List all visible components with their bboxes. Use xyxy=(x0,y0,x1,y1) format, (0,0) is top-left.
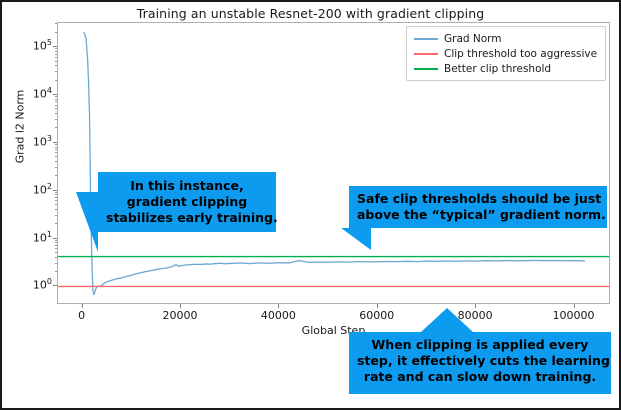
annotation-callout-safe-threshold: Safe clip thresholds should be just abov… xyxy=(349,186,607,228)
x-tick-label: 80000 xyxy=(440,309,510,322)
y-tick-mark xyxy=(53,94,57,95)
callout-two-line-1: Safe clip thresholds should be just xyxy=(357,191,599,207)
x-tick-label: 40000 xyxy=(243,309,313,322)
y-tick-minor-mark xyxy=(55,252,57,253)
y-tick-minor-mark xyxy=(55,200,57,201)
y-tick-minor-mark xyxy=(55,240,57,241)
y-tick-minor-mark xyxy=(55,147,57,148)
y-tick-minor-mark xyxy=(55,204,57,205)
chart-title: Training an unstable Resnet-200 with gra… xyxy=(2,6,619,21)
y-tick-minor-mark xyxy=(55,54,57,55)
y-tick-minor-mark xyxy=(55,192,57,193)
callout-three-line-2: step, it effectively cuts the learning xyxy=(357,353,603,369)
y-tick-label: 105 xyxy=(12,38,52,53)
y-tick-minor-mark xyxy=(55,245,57,246)
y-tick-label: 100 xyxy=(12,277,52,292)
y-tick-mark xyxy=(53,46,57,47)
y-tick-minor-mark xyxy=(55,161,57,162)
y-tick-mark xyxy=(53,190,57,191)
callout-three-line-1: When clipping is applied every xyxy=(357,337,603,353)
y-tick-mark xyxy=(53,285,57,286)
x-tick-label: 100000 xyxy=(539,309,609,322)
y-tick-minor-mark xyxy=(55,248,57,249)
callout-one-line-2: gradient clipping xyxy=(106,194,268,210)
legend-label-grad-norm: Grad Norm xyxy=(444,33,502,45)
legend-item-clip-aggressive: Clip threshold too aggressive xyxy=(412,46,600,61)
y-tick-minor-mark xyxy=(55,194,57,195)
y-tick-minor-mark xyxy=(55,257,57,258)
callout-two-line-2: above the “typical” gradient norm. xyxy=(357,207,599,223)
legend-swatch-grad-norm xyxy=(414,38,438,40)
y-tick-minor-mark xyxy=(55,113,57,114)
x-tick-label: 20000 xyxy=(145,309,215,322)
y-tick-mark xyxy=(53,142,57,143)
annotation-callout-early-training: In this instance, gradient clipping stab… xyxy=(98,172,276,232)
y-tick-minor-mark xyxy=(55,263,57,264)
y-tick-minor-mark xyxy=(55,99,57,100)
y-tick-minor-mark xyxy=(55,23,57,24)
y-tick-minor-mark xyxy=(55,51,57,52)
y-tick-minor-mark xyxy=(55,108,57,109)
y-tick-minor-mark xyxy=(55,152,57,153)
x-tick-mark xyxy=(180,304,181,308)
y-tick-minor-mark xyxy=(55,144,57,145)
y-tick-minor-mark xyxy=(55,96,57,97)
callout-one-line-3: stabilizes early training. xyxy=(106,210,268,226)
y-tick-minor-mark xyxy=(55,127,57,128)
callout-three-line-3: rate and can slow down training. xyxy=(357,369,603,385)
callout-tail-one xyxy=(76,192,98,252)
legend-swatch-clip-aggressive xyxy=(414,53,438,55)
y-tick-minor-mark xyxy=(55,197,57,198)
y-tick-minor-mark xyxy=(55,215,57,216)
y-axis-ticks: 100101102103104105 xyxy=(2,2,52,408)
x-tick-label: 0 xyxy=(47,309,117,322)
screenshot-root: Training an unstable Resnet-200 with gra… xyxy=(0,0,621,410)
legend-label-clip-aggressive: Clip threshold too aggressive xyxy=(444,48,597,60)
legend-item-better-clip: Better clip threshold xyxy=(412,61,600,76)
chart-legend: Grad Norm Clip threshold too aggressive … xyxy=(406,26,606,81)
y-tick-minor-mark xyxy=(55,65,57,66)
y-tick-mark xyxy=(53,238,57,239)
y-tick-minor-mark xyxy=(55,32,57,33)
y-tick-label: 101 xyxy=(12,230,52,245)
y-tick-minor-mark xyxy=(55,80,57,81)
y-axis-label: Grad l2 Norm xyxy=(14,57,27,197)
callout-tail-two xyxy=(341,228,371,250)
annotation-callout-clipping-cost: When clipping is applied every step, it … xyxy=(349,332,611,394)
y-tick-minor-mark xyxy=(55,119,57,120)
x-tick-mark xyxy=(377,304,378,308)
x-tick-mark xyxy=(278,304,279,308)
y-tick-minor-mark xyxy=(55,48,57,49)
x-tick-mark xyxy=(82,304,83,308)
x-tick-label: 60000 xyxy=(342,309,412,322)
legend-item-grad-norm: Grad Norm xyxy=(412,31,600,46)
y-tick-minor-mark xyxy=(55,271,57,272)
legend-label-better-clip: Better clip threshold xyxy=(444,63,551,75)
y-tick-minor-mark xyxy=(55,167,57,168)
x-tick-mark xyxy=(475,304,476,308)
y-tick-minor-mark xyxy=(55,61,57,62)
matplotlib-figure: Training an unstable Resnet-200 with gra… xyxy=(2,2,619,408)
y-tick-minor-mark xyxy=(55,223,57,224)
y-tick-minor-mark xyxy=(55,156,57,157)
x-tick-mark xyxy=(574,304,575,308)
y-tick-minor-mark xyxy=(55,242,57,243)
legend-swatch-better-clip xyxy=(414,68,438,70)
y-tick-minor-mark xyxy=(55,101,57,102)
y-tick-minor-mark xyxy=(55,71,57,72)
y-tick-minor-mark xyxy=(55,175,57,176)
y-tick-minor-mark xyxy=(55,105,57,106)
y-tick-minor-mark xyxy=(55,209,57,210)
y-tick-minor-mark xyxy=(55,149,57,150)
callout-one-line-1: In this instance, xyxy=(106,178,268,194)
y-tick-minor-mark xyxy=(55,57,57,58)
